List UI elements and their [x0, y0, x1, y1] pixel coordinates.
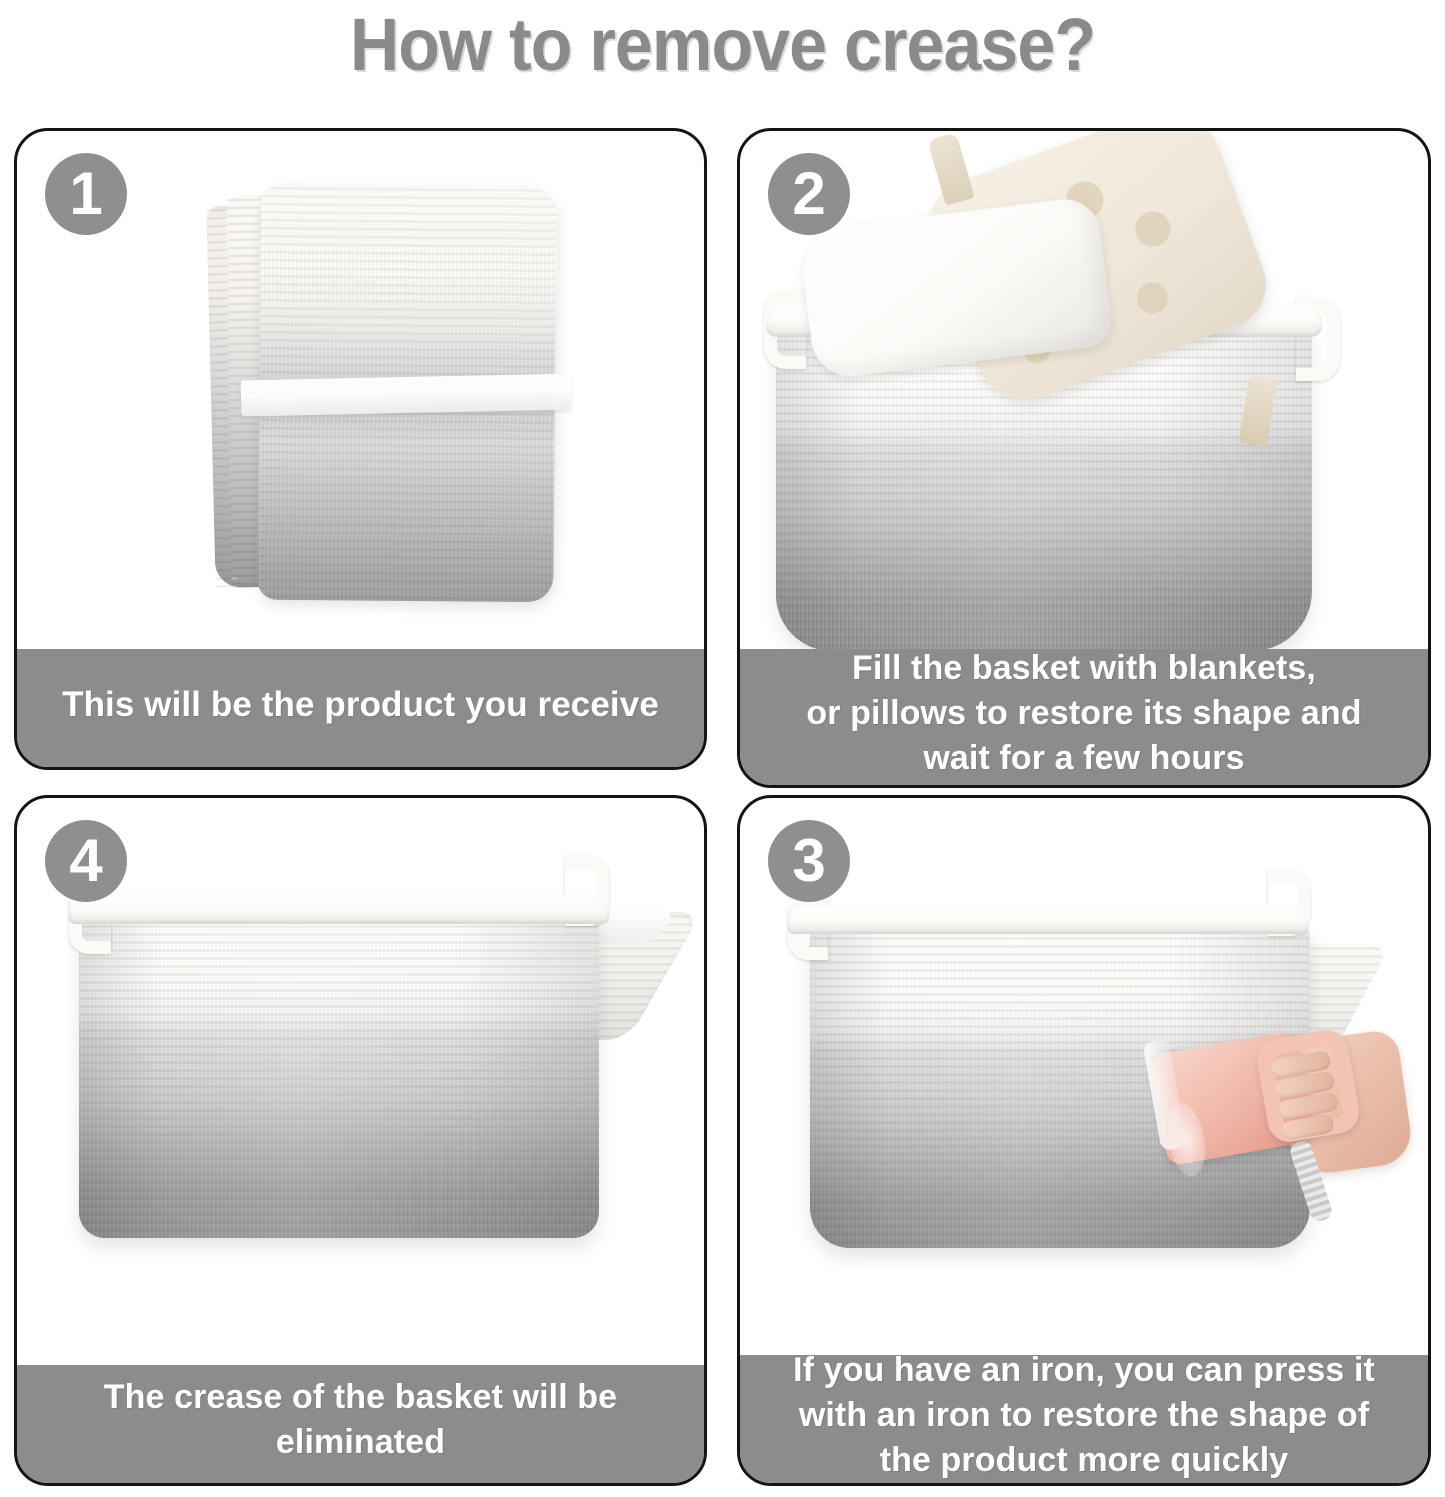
basket-rim — [788, 906, 1308, 934]
steps-grid: 1 This will be the product you — [14, 128, 1431, 1486]
basket-rim — [69, 894, 609, 924]
infographic-page: How to remove crease? 1 — [0, 0, 1445, 1497]
step-caption-2: Fill the basket with blankets, or pillow… — [740, 649, 1428, 785]
elastic-band — [241, 374, 572, 417]
rope-texture — [79, 906, 599, 1238]
rope-weft-texture — [79, 906, 599, 1238]
folded-basket-illustration — [203, 181, 563, 611]
rope-basket-restored — [79, 906, 599, 1238]
fingers — [1269, 1049, 1348, 1141]
page-title: How to remove crease? — [58, 2, 1387, 88]
step-card-1: 1 This will be the product you — [14, 128, 707, 770]
step-image-4 — [17, 798, 704, 1371]
step-card-2: 2 Fill the basket with blankets, or — [737, 128, 1431, 788]
step-caption-4: The crease of the basket will be elimina… — [17, 1365, 704, 1483]
step-caption-1: This will be the product you receive — [17, 649, 704, 767]
step-card-4: 4 The crease of the basket — [14, 795, 707, 1486]
step-number-badge: 3 — [768, 820, 850, 902]
step-number-badge: 4 — [45, 820, 127, 902]
step-caption-3: If you have an iron, you can press it wi… — [740, 1355, 1428, 1483]
steamer-iron-illustration — [1158, 1014, 1408, 1234]
basket-shading — [79, 906, 599, 1238]
step-number-badge: 2 — [768, 153, 850, 235]
step-card-3: 3 — [737, 795, 1431, 1486]
basket-body — [79, 906, 599, 1238]
step-number-badge: 1 — [45, 153, 127, 235]
